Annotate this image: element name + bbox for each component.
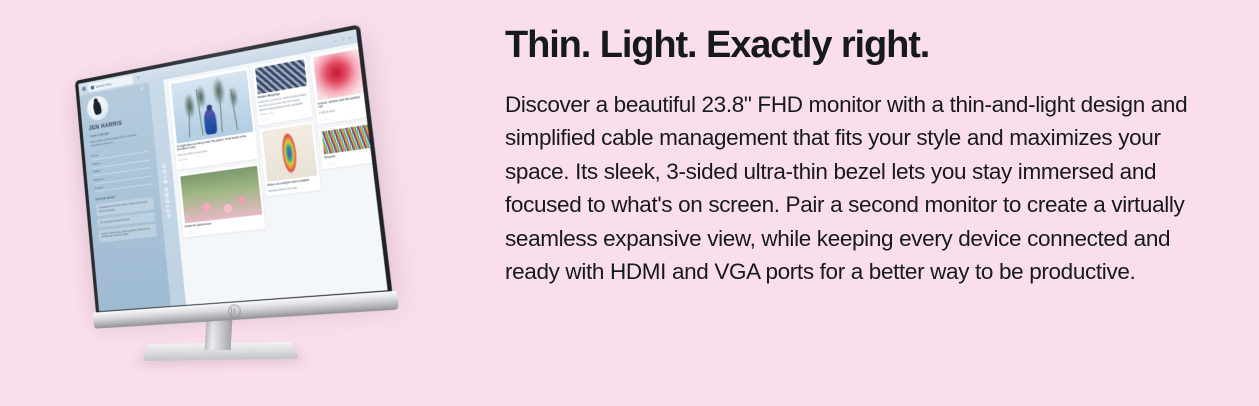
sidebar-nav: Home Stories Gallery About me Contact bbox=[91, 144, 152, 192]
product-image: Uptown Blog + — □ × × JEN HARRIS Travel bbox=[0, 0, 470, 406]
new-tab-icon[interactable]: + bbox=[137, 75, 141, 81]
post-title: Threads bbox=[324, 150, 372, 161]
vertical-brand-label: UPTOWN BLOG bbox=[162, 163, 173, 219]
close-icon[interactable]: × bbox=[140, 86, 144, 92]
post-card[interactable]: Colour, texture and the perfect red A st… bbox=[310, 45, 370, 125]
post-card[interactable]: A bright blue morning under the palms: s… bbox=[168, 67, 258, 171]
palm-trunk bbox=[188, 98, 190, 137]
post-card[interactable]: Pattern language Finding the eye for the… bbox=[252, 56, 313, 126]
post-photo-rainbow-sculpture bbox=[262, 124, 317, 182]
sidebar-card[interactable]: Living in a little house: what we gained… bbox=[98, 224, 157, 243]
hp-logo-icon bbox=[227, 304, 241, 318]
post-photo-flowers-greenhouse bbox=[180, 166, 262, 223]
favicon-icon bbox=[91, 85, 95, 89]
post-excerpt: Saturation without the noise. bbox=[268, 184, 318, 194]
post-title: Pattern language bbox=[258, 87, 308, 99]
post-photo-striped-threads bbox=[321, 124, 371, 154]
post-card-grid: A bright blue morning under the palms: s… bbox=[168, 47, 382, 301]
palm-trunk bbox=[195, 89, 203, 135]
photo-subject-figure bbox=[203, 107, 218, 134]
placeholder-line bbox=[369, 44, 388, 51]
post-title: Colour, texture and the perfect red bbox=[318, 94, 366, 110]
avatar-figure-icon bbox=[92, 100, 102, 116]
post-photo-wooden-hand bbox=[371, 56, 388, 115]
post-photo-palm-trees bbox=[170, 70, 252, 144]
post-card[interactable]: Notes on a bright colour palette Saturat… bbox=[259, 121, 321, 196]
marketing-copy: Thin. Light. Exactly right. Discover a b… bbox=[505, 24, 1210, 289]
avatar bbox=[86, 94, 109, 122]
placeholder-line bbox=[369, 46, 388, 54]
post-meta: Making it work bbox=[260, 107, 309, 117]
hp-monitor: Uptown Blog + — □ × × JEN HARRIS Travel bbox=[75, 24, 393, 314]
grid-column: Colour, texture and the perfect red A st… bbox=[310, 45, 388, 289]
window-controls[interactable]: — □ × bbox=[333, 34, 353, 43]
page-title: Thin. Light. Exactly right. bbox=[505, 24, 1210, 67]
post-excerpt: Finding the eye for the small repeating … bbox=[258, 93, 308, 113]
post-excerpt: A still life study. bbox=[319, 104, 366, 115]
post-card[interactable]: Inside the glasshouse ♡ ⤴ ⌄ bbox=[177, 163, 265, 238]
post-photo-confetti bbox=[255, 59, 307, 94]
post-title: Notes on a bright colour palette bbox=[267, 178, 317, 188]
post-actions[interactable]: ♡ ⤴ ⌄ bbox=[325, 156, 373, 167]
chrome-spacer bbox=[143, 41, 331, 77]
post-card[interactable]: A hand carved in warm light bbox=[368, 52, 388, 124]
monitor-bezel: Uptown Blog + — □ × × JEN HARRIS Travel bbox=[75, 24, 393, 314]
browser-menu-icon bbox=[82, 86, 86, 91]
grid-column: A bright blue morning under the palms: s… bbox=[168, 67, 273, 301]
palm-trunk bbox=[218, 83, 223, 132]
grid-column: Pattern language Finding the eye for the… bbox=[252, 56, 333, 294]
body-paragraph: Discover a beautiful 23.8" FHD monitor w… bbox=[505, 88, 1205, 289]
placeholder-line bbox=[368, 39, 387, 47]
palm-trunk bbox=[230, 88, 238, 129]
post-card[interactable]: Threads ♡ ⤴ ⌄ bbox=[318, 121, 375, 169]
post-photo-pomegranate bbox=[312, 48, 364, 100]
post-card[interactable] bbox=[365, 34, 387, 58]
monitor-screen: Uptown Blog + — □ × × JEN HARRIS Travel bbox=[78, 29, 387, 311]
post-actions[interactable]: ♡ ⤴ ⌄ bbox=[319, 110, 366, 122]
grid-column: A hand carved in warm light bbox=[365, 34, 387, 285]
post-actions[interactable]: ♡ ⤴ ⌄ bbox=[260, 111, 310, 123]
post-title: A hand carved in warm light bbox=[377, 110, 388, 122]
promo-banner: Uptown Blog + — □ × × JEN HARRIS Travel bbox=[0, 0, 1259, 406]
browser-tab-title: Uptown Blog bbox=[96, 82, 112, 89]
